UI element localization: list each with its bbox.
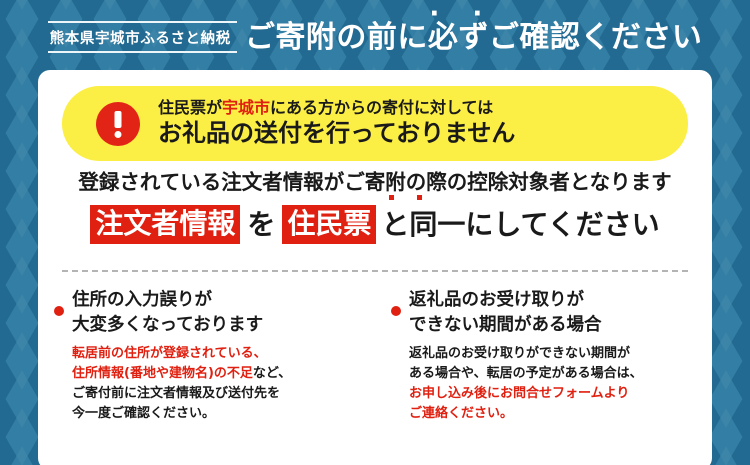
notice-column-2-title-line1: 返礼品のお受け取りが [409, 288, 700, 313]
notice-column-2-title-line2: できない期間がある場合 [409, 313, 700, 338]
mid-section: 登録されている注文者情報がご寄附の際の控除対象者となります 注文者情報 を 住民… [38, 170, 712, 244]
exclamation-bar [115, 111, 122, 128]
brand-label-block: 熊本県宇城市ふるさと納税 [48, 21, 233, 53]
notice-columns: 住所の入力誤りが 大変多くなっております 転居前の住所が登録されている、 住所情… [38, 288, 712, 424]
notice-column-2-body-line4-text: ご連絡ください。 [409, 406, 513, 421]
dashed-divider [62, 270, 688, 272]
headline: ご寄附の前に必ずご確認ください [245, 23, 703, 53]
mid-tail: と同一にしてください [376, 208, 659, 241]
notice-column-2-body-line2: ある場合や、転居の予定がある場合は、 [409, 364, 700, 384]
notice-column-2-body-line1: 返礼品のお受け取りができない期間が [409, 344, 700, 364]
notice-column-1-body-line2-tail: など、 [253, 366, 291, 381]
exclamation-dot [115, 131, 122, 138]
notice-column-1-body-line3: ご寄付前に注文者情報及び送付先を [72, 384, 363, 404]
headline-before: ご寄附の前に [245, 20, 428, 55]
notice-column-1-body-line4: 今一度ご確認ください。 [72, 404, 363, 424]
brand-label: 熊本県宇城市ふるさと納税 [48, 27, 233, 48]
notice-column-1-body-line1-text: 転居前の住所が登録されている、 [72, 346, 267, 361]
alert-line-2: お礼品の送付を行っておりません [158, 119, 515, 148]
mid-highlight-2: 住民票 [282, 205, 376, 244]
notice-column-2-body: 返礼品のお受け取りができない期間が ある場合や、転居の予定がある場合は、 お申し… [409, 344, 700, 425]
bullet-dot-icon [391, 306, 401, 316]
headline-emphasis: 必ず [428, 20, 489, 55]
mid-tail-text: と同一にしてください [381, 208, 659, 241]
notice-column-1-body-line2: 住所情報(番地や建物名)の不足など、 [72, 364, 363, 384]
exclamation-circle-icon [96, 102, 140, 146]
alert-line-1: 住民票が宇城市にある方からの寄付に対しては [158, 98, 515, 118]
alert-line1-part2: にある方からの寄付に対しては [270, 98, 493, 117]
notice-column-1-title-line1: 住所の入力誤りが [72, 288, 363, 313]
mid-line-1: 登録されている注文者情報がご寄附の際の控除対象者となります [38, 170, 712, 195]
notice-column-2: 返礼品のお受け取りが できない期間がある場合 返礼品のお受け取りができない期間が… [375, 288, 712, 424]
notice-column-2-body-line3-text: お申し込み後にお問合せフォームより [409, 386, 629, 401]
banner-header: 熊本県宇城市ふるさと納税 ご寄附の前に必ずご確認ください [0, 0, 750, 72]
alert-pill: 住民票が宇城市にある方からの寄付に対しては お礼品の送付を行っておりません [62, 86, 688, 161]
mid-line-2: 注文者情報 を 住民票 と同一にしてください [38, 205, 712, 244]
notice-column-2-title: 返礼品のお受け取りが できない期間がある場合 [409, 288, 700, 338]
bullet-dot-icon [54, 306, 64, 316]
notice-column-2-body-line3: お申し込み後にお問合せフォームより [409, 384, 700, 404]
alert-text-block: 住民票が宇城市にある方からの寄付に対しては お礼品の送付を行っておりません [158, 98, 515, 148]
notice-column-1-body-line1: 転居前の住所が登録されている、 [72, 344, 363, 364]
notice-column-2-body-line4: ご連絡ください。 [409, 404, 700, 424]
notice-column-1-title-line2: 大変多くなっております [72, 313, 363, 338]
alert-line1-highlight: 宇城市 [222, 98, 270, 117]
promotional-banner: 熊本県宇城市ふるさと納税 ご寄附の前に必ずご確認ください 住民票が宇城市にある方… [0, 0, 750, 465]
headline-after: ご確認ください [489, 20, 703, 55]
notice-column-1-body: 転居前の住所が登録されている、 住所情報(番地や建物名)の不足など、 ご寄付前に… [72, 344, 363, 425]
notice-column-1-title: 住所の入力誤りが 大変多くなっております [72, 288, 363, 338]
notice-column-1-body-line2-red: 住所情報(番地や建物名)の不足 [72, 366, 253, 381]
mid-conjunction: を [240, 208, 282, 241]
content-card: 住民票が宇城市にある方からの寄付に対しては お礼品の送付を行っておりません 登録… [38, 70, 712, 465]
notice-column-1: 住所の入力誤りが 大変多くなっております 転居前の住所が登録されている、 住所情… [38, 288, 375, 424]
emphasis-dots [383, 195, 441, 202]
alert-line1-part1: 住民票が [158, 98, 222, 117]
mid-highlight-1: 注文者情報 [90, 205, 240, 244]
